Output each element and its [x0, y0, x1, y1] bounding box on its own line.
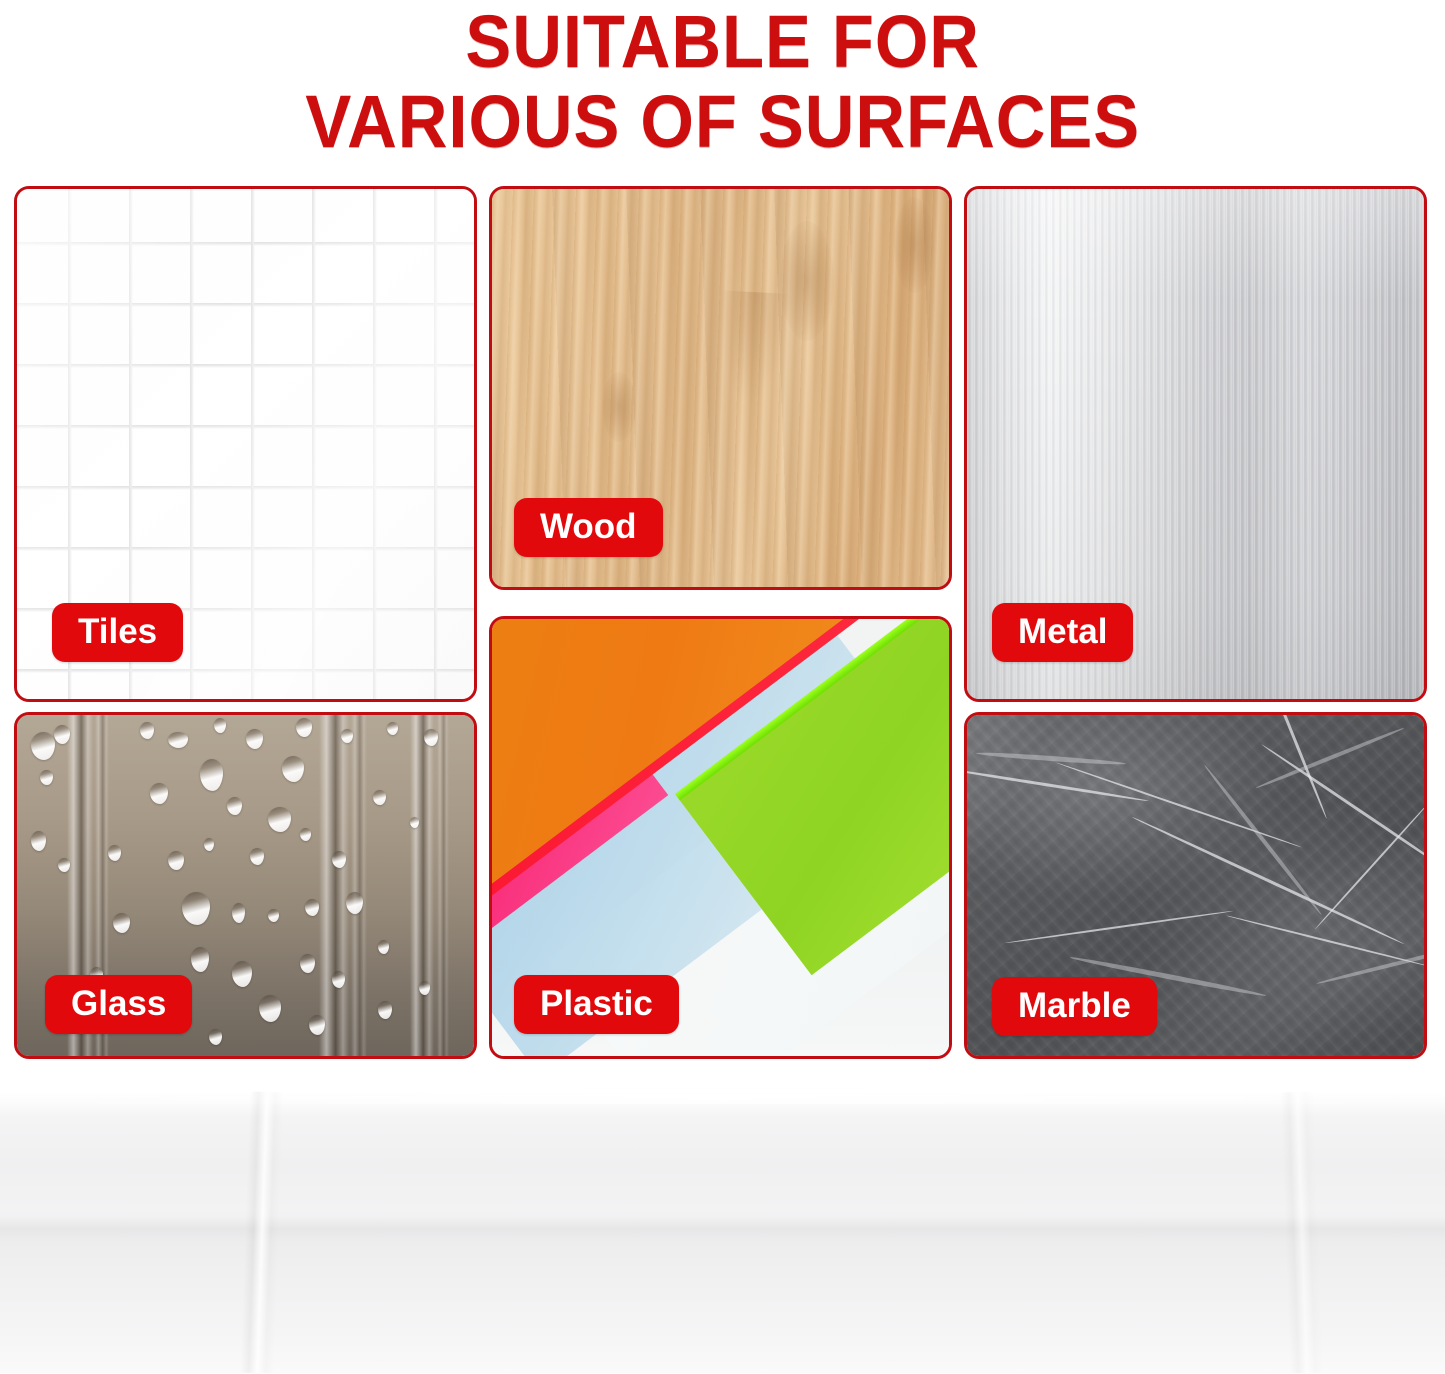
water-streak [351, 712, 367, 1059]
surface-card-marble: Marble [964, 712, 1427, 1059]
water-droplet [305, 899, 319, 916]
water-droplet [246, 729, 263, 749]
surface-label-metal: Metal [992, 603, 1133, 662]
water-droplet [40, 770, 53, 785]
surface-label-glass: Glass [45, 975, 192, 1034]
water-droplet [300, 828, 311, 841]
surface-label-tiles: Tiles [52, 603, 183, 662]
water-droplet [113, 913, 130, 933]
surface-card-wood: Wood [489, 186, 952, 590]
surface-card-plastic: Plastic [489, 616, 952, 1059]
water-streak [410, 712, 434, 1059]
water-droplet [232, 903, 245, 923]
page-title: SUITABLE FOR VARIOUS OF SURFACES [0, 0, 1445, 178]
surface-card-tiles: Tiles [14, 186, 477, 702]
water-droplet [424, 729, 438, 746]
water-droplet [168, 732, 188, 748]
water-droplet [31, 831, 46, 851]
water-droplet [232, 961, 252, 987]
water-droplet [282, 756, 304, 782]
water-droplet [259, 995, 281, 1022]
surface-label-wood: Wood [514, 498, 663, 557]
surface-card-metal: Metal [964, 186, 1427, 702]
surface-crease [1280, 1091, 1324, 1373]
water-droplet [191, 947, 209, 972]
wood-knot-icon [602, 372, 636, 442]
surface-label-plastic: Plastic [514, 975, 679, 1034]
wood-knot-icon [780, 221, 834, 341]
water-droplet [387, 722, 398, 735]
surface-card-glass: Glass [14, 712, 477, 1059]
water-droplet [200, 759, 223, 791]
surface-shadow-band [0, 1216, 1445, 1242]
surface-highlight [0, 1094, 1445, 1104]
product-surface-bottom [0, 1092, 1445, 1373]
headline-line-2: VARIOUS OF SURFACES [305, 82, 1140, 162]
water-droplet [31, 732, 55, 760]
headline-line-1: SUITABLE FOR [465, 2, 980, 82]
surface-crease [240, 1091, 284, 1373]
water-streak [319, 712, 349, 1059]
water-streak [437, 712, 449, 1059]
water-droplet [209, 1029, 222, 1045]
wood-knot-icon [894, 197, 934, 293]
surface-label-marble: Marble [992, 977, 1157, 1036]
